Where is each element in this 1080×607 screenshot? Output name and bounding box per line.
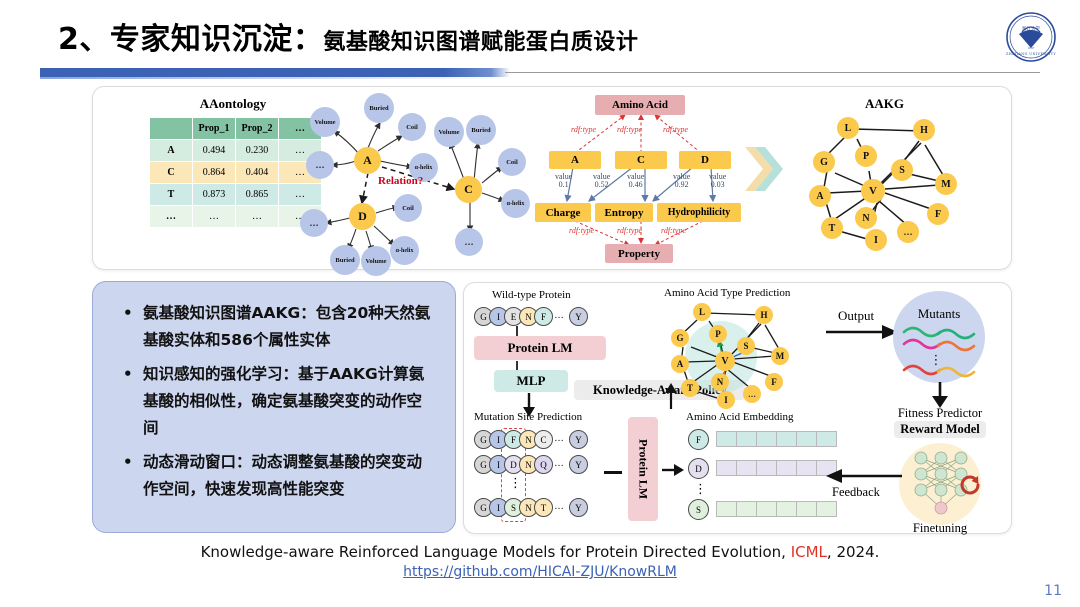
aakg-node-H: H [913,119,935,141]
table-row: … … … … [150,206,322,228]
node-A: A [354,147,381,174]
aakg-node-F: F [765,373,783,391]
cell: T [150,184,193,206]
seq-node: Y [569,307,588,326]
embedding-node-S: S [688,499,709,520]
aakg-node-P: P [709,325,727,343]
aakg-node-H: H [755,306,773,324]
rdf-type-label: rdf:type [663,125,688,134]
seq-ellipsis: … [554,433,564,444]
aakg-node-M: M [935,173,957,195]
title-subtitle: 氨基酸知识图谱赋能蛋白质设计 [323,30,638,55]
aaontology-title: AAontology [153,96,313,112]
embedding-node-D: D [688,458,709,479]
key-points-callout: 氨基酸知识图谱AAKG：包含20种天然氨基酸实体和586个属性实体 知识感知的强… [92,281,456,533]
rdf-node-D: D [679,151,731,169]
aakg-node-A: A [671,355,689,373]
node-coil: Coil [498,148,526,176]
aaontology-table: Prop_1 Prop_2 … A 0.494 0.230 … C 0.864 … [149,117,322,228]
cell: 0.864 [193,162,236,184]
table-row: C 0.864 0.404 … [150,162,322,184]
embedding-vector [716,501,837,517]
aakg-node-L: L [693,303,711,321]
embedding-vertical-dots: ⋮ [694,481,707,497]
seq-node: Y [569,430,588,449]
title-divider-shadow [40,77,510,79]
node-coil: Coil [394,194,422,222]
embedding-vector [716,460,837,476]
protein-lm-vertical-box: Protein LM [628,417,658,521]
policy-aakg-graph: L H G P S M A V T N I F … [659,303,819,413]
embedding-node-F: F [688,429,709,450]
rdf-value-label: value0.92 [673,173,690,190]
aakg-node-F: F [927,203,949,225]
cell: 0.494 [193,140,236,162]
aakg-node-V: V [715,351,735,371]
amino-acid-type-prediction-title: Amino Acid Type Prediction [664,287,790,299]
cell: … [150,206,193,228]
list-item: 动态滑动窗口：动态调整氨基酸的突变动作空间，快速发现高性能突变 [121,449,435,503]
cell: 0.873 [193,184,236,206]
citation-title: Knowledge-aware Reinforced Language Mode… [201,543,791,561]
protein-lm-box: Protein LM [474,336,606,360]
aakg-node-T: T [821,217,843,239]
table-row: A 0.494 0.230 … [150,140,322,162]
output-label: Output [838,308,874,324]
rdf-property-charge: Charge [535,203,591,222]
title-number: 2、专家知识沉淀： [58,22,323,57]
list-item: 知识感知的强化学习：基于AAKG计算氨基酸的相似性，确定氨基酸突变的动作空间 [121,361,435,442]
rdf-node-A: A [549,151,601,169]
cell: A [150,140,193,162]
rdf-value-label: value0.52 [593,173,610,190]
seq-node: T [534,498,553,517]
rdf-type-label: rdf:type [569,226,594,235]
svg-text:ZHEJIANG UNIVERSITY: ZHEJIANG UNIVERSITY [1006,52,1056,56]
table-col-0 [150,118,193,140]
aakg-node-L: L [837,117,859,139]
page-number: 11 [1044,583,1062,599]
aakg-node-S: S [891,159,913,181]
relation-question-label: Relation? [378,175,423,187]
rdf-type-label: rdf:type [617,226,642,235]
node-ellipsis: … [306,151,334,179]
connector-line [604,471,622,474]
aakg-node-A: A [809,185,831,207]
aakg-node-P: P [855,145,877,167]
seq-node: Y [569,498,588,517]
github-link[interactable]: https://github.com/HICAI-ZJU/KnowRLM [0,564,1080,580]
aakg-node-G: G [671,329,689,347]
rdf-property-entropy: Entropy [595,203,653,222]
aakg-node-I: I [717,391,735,409]
key-points-list: 氨基酸知识图谱AAKG：包含20种天然氨基酸实体和586个属性实体 知识感知的强… [121,300,435,510]
rdf-value-label: value0.46 [627,173,644,190]
reward-model-label: Reward Model [894,421,986,438]
aakg-node-T: T [681,379,699,397]
node-volume: Volume [434,117,464,147]
aakg-node-M: M [771,347,789,365]
aakg-node-N: N [855,207,877,229]
feedback-label: Feedback [832,485,880,500]
cell: 0.404 [236,162,279,184]
rdf-node-C: C [615,151,667,169]
rdf-value-label: value0.03 [709,173,726,190]
seq-ellipsis: … [554,501,564,512]
citation-venue: ICML [791,543,827,561]
list-item: 氨基酸知识图谱AAKG：包含20种天然氨基酸实体和586个属性实体 [121,300,435,354]
seq-ellipsis: … [554,310,564,321]
title-divider-gray [505,72,1040,73]
node-buried: Buried [330,245,360,275]
svg-text:⋮: ⋮ [930,352,943,367]
node-buried: Buried [466,115,496,145]
node-alpha-helix: α-helix [501,189,530,218]
aakg-node-N: N [711,373,729,391]
rdf-type-label: rdf:type [571,125,596,134]
node-D: D [349,203,376,230]
seq-node: F [534,307,553,326]
finetuning-label: Finetuning [888,521,992,536]
rdf-class-amino-acid: Amino Acid [595,95,685,115]
seq-node: Q [534,455,553,474]
ontology-graph: A D C Volume Buried Coil α-helix … … Coi… [298,93,553,263]
table-row: T 0.873 0.865 … [150,184,322,206]
zhejiang-university-logo-icon: 浙江大学 ZHEJIANG UNIVERSITY 1897 [1002,8,1060,66]
aakg-node-ellipsis: … [743,385,761,403]
rdf-property-hydrophilicity: Hydrophilicity [657,203,741,222]
citation-year: , 2024. [827,543,879,561]
arrow-to-mlp-icon [516,361,518,370]
knowledge-graph-panel: AAontology Prop_1 Prop_2 … A 0.494 0.230… [92,86,1012,270]
arrow-to-protein-lm-icon [516,326,518,336]
svg-text:1897: 1897 [1027,46,1034,50]
mlp-box: MLP [494,370,568,392]
wildtype-protein-title: Wild-type Protein [492,289,571,301]
rdf-class-property: Property [605,244,673,263]
rdf-diagram: Amino Acid A C D Charge Entropy Hydrophi… [533,93,748,263]
cell: 0.865 [236,184,279,206]
table-col-2: Prop_2 [236,118,279,140]
rdf-type-label: rdf:type [661,226,686,235]
page-title: 2、专家知识沉淀：氨基酸知识图谱赋能蛋白质设计 [58,14,638,58]
aakg-title: AAKG [865,96,904,112]
aakg-node-S: S [737,337,755,355]
node-coil: Coil [398,113,426,141]
amino-acid-embedding-title: Amino Acid Embedding [686,411,794,423]
aakg-graph: L H G P S M A V T N I F … [793,115,993,265]
cell: C [150,162,193,184]
paper-citation: Knowledge-aware Reinforced Language Mode… [0,543,1080,580]
mutation-vertical-dots: ⋮ [509,475,522,491]
node-ellipsis: … [455,228,483,256]
mutants-label: Mutants [906,306,972,322]
cell: 0.230 [236,140,279,162]
seq-node: C [534,430,553,449]
title-divider-blue [40,68,510,77]
table-col-1: Prop_1 [193,118,236,140]
rdf-type-label: rdf:type [617,125,642,134]
cell: … [193,206,236,228]
node-volume: Volume [361,246,391,276]
rdf-value-label: value0.1 [555,173,572,190]
node-ellipsis: … [300,209,328,237]
aakg-node-V: V [861,179,885,203]
svg-text:浙江大学: 浙江大学 [1022,25,1040,32]
cell: … [236,206,279,228]
seq-ellipsis: … [554,458,564,469]
node-buried: Buried [364,93,394,123]
table-header-row: Prop_1 Prop_2 … [150,118,322,140]
seq-node: Y [569,455,588,474]
embedding-vector [716,431,837,447]
aakg-node-ellipsis: … [897,221,919,243]
aakg-node-I: I [865,229,887,251]
node-C: C [455,176,482,203]
node-alpha-helix: α-helix [390,236,419,265]
node-volume: Volume [310,107,340,137]
fitness-predictor-label: Fitness Predictor [880,406,1000,421]
aakg-node-G: G [813,151,835,173]
mutation-site-prediction-title: Mutation Site Prediction [474,411,582,423]
